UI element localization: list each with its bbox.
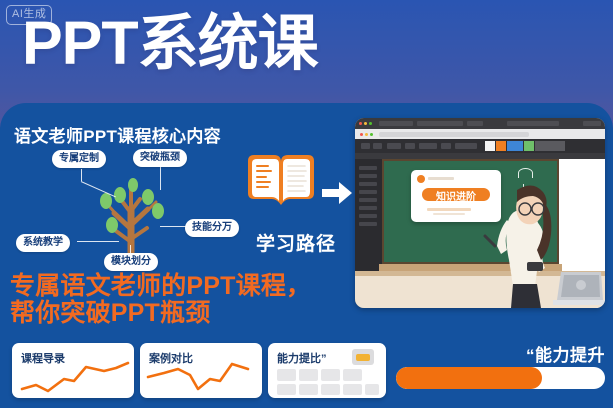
tree-node-label: 系统教学 — [16, 234, 70, 252]
panel-heading: 语文老师PPT课程核心内容 — [14, 122, 221, 147]
left-panel-row[interactable] — [359, 214, 377, 218]
tree-leader-line — [160, 164, 161, 190]
grid-cell — [299, 369, 318, 381]
editor-tab[interactable] — [583, 121, 601, 126]
editor-tab[interactable] — [507, 121, 559, 126]
knowledge-tree-diagram: 专属定制 突破瓶颈 技能分万 系统教学 模块划分 — [8, 147, 240, 267]
tree-node-label: 突破瓶颈 — [133, 149, 187, 167]
tree-leader-line — [77, 241, 119, 242]
sparkline-chart — [140, 343, 262, 398]
left-panel-row[interactable] — [359, 222, 377, 226]
urlbar-close-dot[interactable] — [360, 133, 363, 136]
toolbar-icon[interactable] — [419, 143, 437, 149]
laptop-icon — [553, 270, 605, 308]
color-swatch-green[interactable] — [524, 141, 534, 151]
color-swatch-gray[interactable] — [535, 141, 565, 151]
mini-card-ability-compare[interactable]: 能力提比” — [268, 343, 386, 398]
learning-path-label: 学习路径 — [244, 229, 348, 256]
promo-headline: 专属语文老师的PPT课程， 帮你突破PPT瓶颈 — [10, 273, 311, 327]
left-panel-row[interactable] — [359, 206, 377, 210]
toolbar-icon[interactable] — [405, 143, 415, 149]
slide-logo-icon — [417, 175, 425, 183]
left-panel-row[interactable] — [359, 198, 377, 202]
tree-node-label: 专属定制 — [52, 150, 106, 168]
toolbar-icon[interactable] — [373, 143, 382, 149]
sparkline-chart — [12, 343, 134, 398]
image-placeholder-fill — [356, 354, 370, 361]
grid-cell — [343, 384, 362, 395]
mini-card-course-index[interactable]: 课程导录 — [12, 343, 134, 398]
color-swatch-white[interactable] — [485, 141, 495, 151]
left-panel-row[interactable] — [359, 190, 377, 194]
tree-icon — [86, 167, 178, 267]
tree-node-label: 技能分万 — [185, 219, 239, 237]
color-swatch-blue[interactable] — [507, 141, 523, 151]
urlbar-minimize-dot[interactable] — [365, 133, 368, 136]
window-minimize-dot[interactable] — [364, 122, 367, 125]
ability-progress-fill — [396, 367, 542, 389]
editor-tab[interactable] — [379, 121, 413, 126]
promo-line-1: 专属语文老师的PPT课程， — [10, 273, 311, 300]
arrow-right-icon — [322, 181, 352, 205]
toolbar-icon[interactable] — [441, 143, 451, 149]
grid-cell — [299, 384, 318, 395]
ai-generated-badge: AI生成 — [6, 5, 52, 25]
teacher-illustration: 知识进阶 — [355, 118, 605, 308]
editor-tab[interactable] — [417, 121, 463, 126]
tree-node-label: 模块划分 — [104, 253, 158, 271]
grid-cell — [343, 369, 362, 381]
mini-card-case-compare[interactable]: 案例对比 — [140, 343, 262, 398]
content-panel: 语文老师PPT课程核心内容 — [0, 103, 613, 408]
grid-cell — [321, 369, 340, 381]
window-close-dot[interactable] — [359, 122, 362, 125]
left-panel-row[interactable] — [359, 174, 377, 178]
editor-tab[interactable] — [467, 121, 483, 126]
slide-logo-text — [428, 177, 454, 180]
url-field[interactable] — [379, 132, 529, 137]
grid-cell — [277, 369, 296, 381]
slide-badge-label: 知识进阶 — [420, 188, 492, 203]
grid-cell — [365, 384, 379, 395]
tree-leader-line — [160, 226, 188, 227]
toolbar-icon[interactable] — [361, 143, 370, 149]
urlbar-maximize-dot[interactable] — [370, 133, 373, 136]
poster-canvas: AI生成 PPT系统课 语文老师PPT课程核心内容 — [0, 0, 613, 408]
slide-footer-line — [433, 213, 465, 215]
ability-progress-label: “能力提升 — [526, 341, 605, 366]
grid-cell — [277, 384, 296, 395]
left-panel-row[interactable] — [359, 166, 377, 170]
left-panel-row[interactable] — [359, 182, 377, 186]
page-title: PPT系统课 — [22, 7, 318, 79]
grid-cell — [321, 384, 340, 395]
color-swatch-orange[interactable] — [496, 141, 506, 151]
toolbar-icon[interactable] — [455, 143, 477, 149]
promo-line-2: 帮你突破PPT瓶颈 — [10, 300, 311, 327]
learning-path-block: 学习路径 — [244, 151, 352, 261]
toolbar-icon[interactable] — [387, 143, 401, 149]
teacher-figure — [483, 176, 559, 308]
ability-progress-track[interactable] — [396, 367, 605, 389]
slide-footer-line — [427, 208, 471, 211]
mini-card-title: 能力提比” — [277, 350, 327, 366]
tree-leader-line — [81, 169, 82, 181]
open-book-icon — [244, 151, 318, 213]
window-maximize-dot[interactable] — [369, 122, 372, 125]
